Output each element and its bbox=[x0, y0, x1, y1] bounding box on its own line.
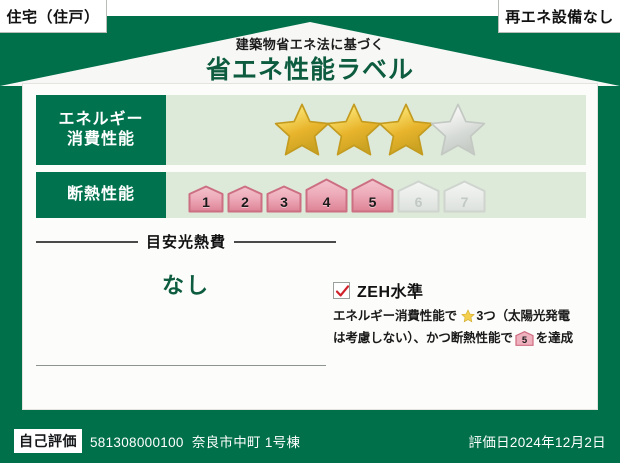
zeh-desc-part3: は考慮しない）、かつ断熱性能で bbox=[333, 331, 513, 345]
insulation-level-number: 2 bbox=[241, 194, 249, 213]
star-empty-icon bbox=[429, 101, 487, 159]
insulation-level-number: 7 bbox=[461, 194, 469, 213]
evaluation-date: 評価日2024年12月2日 bbox=[469, 431, 606, 451]
estimated-cost-title: 目安光熱費 bbox=[146, 231, 226, 252]
self-evaluation-badge: 自己評価 bbox=[14, 429, 82, 453]
energy-label-line1: エネルギー bbox=[58, 110, 143, 130]
inline-house-badge: 5 bbox=[515, 331, 534, 352]
tab-renewable-equipment: 再エネ設備なし bbox=[498, 0, 620, 33]
star-filled-icon bbox=[325, 101, 383, 159]
row-insulation-performance: 断熱性能 1234567 bbox=[36, 172, 586, 218]
star-filled-icon bbox=[273, 101, 331, 159]
estimated-cost-header: 目安光熱費 bbox=[36, 231, 336, 252]
insulation-level-4: 4 bbox=[305, 178, 348, 213]
star-rating bbox=[273, 101, 487, 159]
insulation-level-6: 6 bbox=[397, 180, 440, 213]
title-block: 建築物省エネ法に基づく 省エネ性能ラベル bbox=[0, 38, 620, 83]
estimated-cost-value: なし bbox=[36, 268, 336, 300]
main-panel: エネルギー 消費性能 断熱性能 1234567 目安光熱費 なし bbox=[22, 83, 598, 410]
row-insulation-performance-value: 1234567 bbox=[166, 172, 586, 218]
insulation-level-number: 4 bbox=[323, 194, 331, 213]
insulation-level-1: 1 bbox=[188, 185, 224, 213]
tab-building-type-label: 住宅（住戸） bbox=[6, 6, 99, 27]
footer-address: 奈良市中町 1号棟 bbox=[192, 435, 300, 450]
title-subtitle: 建築物省エネ法に基づく bbox=[0, 38, 620, 51]
zeh-block: ZEH水準 エネルギー消費性能で 3つ（太陽光発電 は考慮しない）、かつ断熱性能… bbox=[333, 278, 591, 352]
cost-section-divider bbox=[36, 365, 326, 366]
energy-performance-label: 住宅（住戸） 再エネ設備なし 建築物省エネ法に基づく 省エネ性能ラベル エネルギ… bbox=[0, 0, 620, 463]
insulation-level-number: 6 bbox=[415, 194, 423, 213]
zeh-header: ZEH水準 bbox=[333, 278, 591, 302]
svg-text:5: 5 bbox=[522, 335, 528, 346]
cost-rule-left bbox=[36, 241, 138, 243]
zeh-checkbox[interactable] bbox=[333, 282, 350, 299]
inline-star-icon bbox=[458, 312, 475, 326]
tab-renewable-equipment-label: 再エネ設備なし bbox=[505, 6, 614, 27]
footer-identifier: 581308000100 奈良市中町 1号棟 bbox=[90, 431, 300, 451]
cost-rule-right bbox=[234, 241, 336, 243]
zeh-title: ZEH水準 bbox=[357, 278, 424, 302]
energy-label-line2: 消費性能 bbox=[58, 130, 143, 150]
row-energy-performance-value bbox=[166, 95, 586, 165]
insulation-level-number: 3 bbox=[280, 194, 288, 213]
row-insulation-performance-label: 断熱性能 bbox=[36, 172, 166, 218]
insulation-level-scale: 1234567 bbox=[188, 178, 486, 213]
star-filled-icon bbox=[377, 101, 435, 159]
footer-bar: 自己評価 581308000100 奈良市中町 1号棟 評価日2024年12月2… bbox=[0, 418, 620, 463]
row-energy-performance: エネルギー 消費性能 bbox=[36, 95, 586, 165]
page-title: 省エネ性能ラベル bbox=[0, 58, 620, 83]
insulation-level-number: 5 bbox=[369, 194, 377, 213]
insulation-level-5: 5 bbox=[351, 178, 394, 213]
footer-id-number: 581308000100 bbox=[90, 435, 184, 450]
zeh-desc-part4: を達成 bbox=[536, 331, 573, 345]
tab-building-type: 住宅（住戸） bbox=[0, 0, 107, 33]
insulation-level-2: 2 bbox=[227, 185, 263, 213]
insulation-level-7: 7 bbox=[443, 180, 486, 213]
zeh-description: エネルギー消費性能で 3つ（太陽光発電 は考慮しない）、かつ断熱性能で 5 を達… bbox=[333, 307, 591, 352]
row-energy-performance-label: エネルギー 消費性能 bbox=[36, 95, 166, 165]
check-icon bbox=[335, 284, 350, 299]
insulation-level-3: 3 bbox=[266, 185, 302, 213]
zeh-desc-part2: 3つ（太陽光発電 bbox=[476, 309, 570, 323]
zeh-desc-part1: エネルギー消費性能で bbox=[333, 309, 457, 323]
insulation-label-text: 断熱性能 bbox=[67, 185, 135, 205]
insulation-level-number: 1 bbox=[202, 194, 210, 213]
